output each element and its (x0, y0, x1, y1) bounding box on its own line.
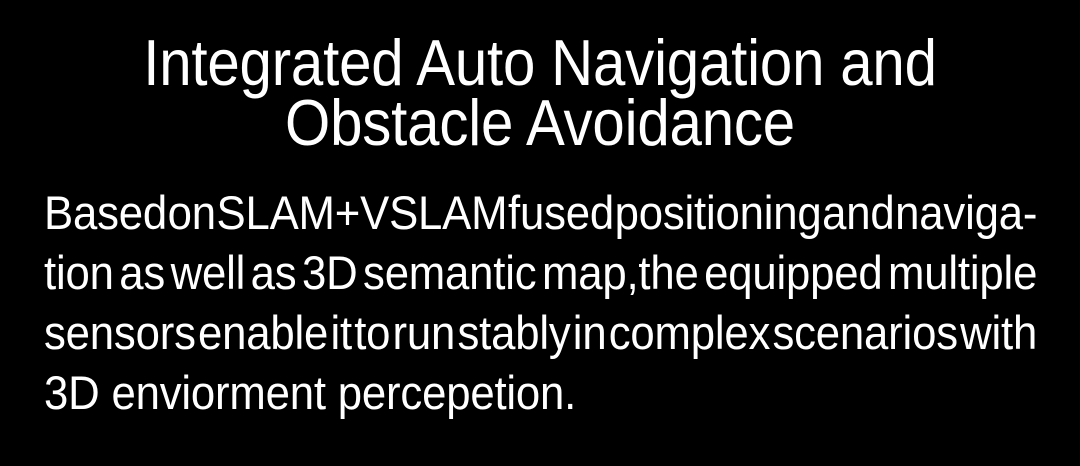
body-word: tion (44, 243, 114, 303)
body-word: in (573, 303, 607, 363)
title-line-2: Obstacle Avoidance (57, 93, 1024, 153)
slide-title: Integrated Auto Navigation and Obstacle … (0, 33, 1080, 153)
body-word: 3D (302, 243, 358, 303)
body-line-2: tionaswellas3Dsemanticmap,theequippedmul… (44, 243, 1037, 303)
body-word: percepetion. (338, 363, 576, 423)
body-word: multiple (888, 243, 1037, 303)
body-word: it (330, 303, 351, 363)
body-word: positioning (615, 183, 822, 243)
slide-canvas: Integrated Auto Navigation and Obstacle … (0, 0, 1080, 466)
body-word: and (822, 183, 894, 243)
body-word: well (171, 243, 246, 303)
body-word: stably (457, 303, 570, 363)
body-line-3: sensorsenableittorunstablyincomplexscena… (44, 303, 1037, 363)
body-word: to (354, 303, 390, 363)
body-word: scenarios (772, 303, 957, 363)
body-word: equipped (704, 243, 882, 303)
body-word: sensors (44, 303, 196, 363)
body-word: as (251, 243, 297, 303)
body-word: Based (44, 183, 167, 243)
body-word: naviga- (895, 183, 1037, 243)
body-word: semantic (363, 243, 536, 303)
body-word: run (393, 303, 456, 363)
body-word: complex (609, 303, 770, 363)
body-word: map,the (542, 243, 699, 303)
body-line-4: 3D enviorment percepetion. (44, 363, 1037, 423)
body-word: 3D (44, 363, 100, 423)
body-word: enable (198, 303, 328, 363)
body-word: enviorment (111, 363, 325, 423)
body-word: SLAM+VSLAM (217, 183, 508, 243)
title-line-1: Integrated Auto Navigation and (57, 33, 1024, 93)
slide-body-text: BasedonSLAM+VSLAMfusedpositioningandnavi… (44, 183, 1037, 423)
body-line-1: BasedonSLAM+VSLAMfusedpositioningandnavi… (44, 183, 1037, 243)
body-word: with (960, 303, 1037, 363)
body-word: as (119, 243, 165, 303)
body-word: fused (508, 183, 614, 243)
body-word: on (168, 183, 216, 243)
